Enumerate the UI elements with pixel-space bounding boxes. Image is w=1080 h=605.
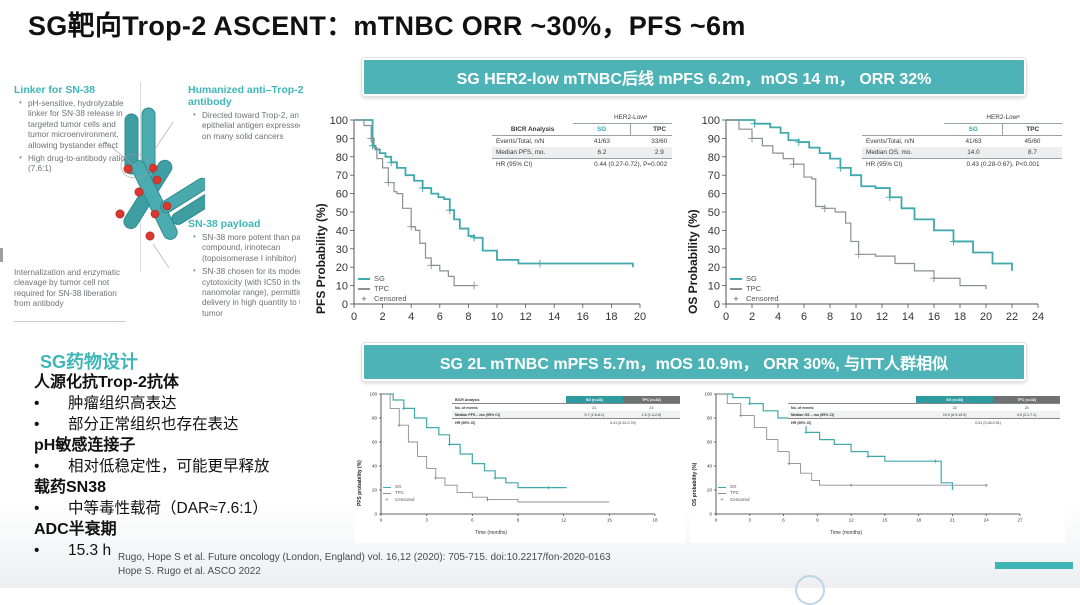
table-cell-value: 14.0: [944, 147, 1003, 159]
table-cell-label: Median PFS – mo (95% CI): [452, 411, 566, 419]
banner-2l-summary: SG 2L mTNBC mPFS 5.7m，mOS 10.9m， ORR 30%…: [362, 343, 1026, 381]
bullet-text: 相对低稳定性，可能更早释放: [68, 456, 270, 477]
chart-pfs-her2low-ylabel: PFS Probability (%): [314, 203, 328, 314]
table-row: HR (95% CI) 0.43 (0.28-0.67), P<0.001: [862, 159, 1062, 171]
svg-text:4: 4: [775, 311, 781, 323]
chart-pfs-2l-legend: SG TPC +Censored: [383, 484, 415, 504]
svg-text:30: 30: [708, 244, 720, 256]
humanized-bullets: Directed toward Trop-2, an epithelial an…: [188, 111, 314, 142]
svg-text:40: 40: [372, 464, 378, 469]
legend-swatch-sg: [718, 487, 726, 488]
bullet-marker: •: [34, 498, 68, 519]
table-cell-value: 0.43 (0.28-0.67), P<0.001: [944, 159, 1062, 171]
svg-text:20: 20: [980, 311, 992, 323]
legend-label-tpc: TPC: [746, 284, 761, 294]
svg-text:6: 6: [801, 311, 807, 323]
svg-text:20: 20: [708, 262, 720, 274]
table-group-header: HER2-Lowᵃ: [573, 112, 688, 124]
design-notes-list: 人源化抗Trop-2抗体 •肿瘤组织高表达 •部分正常组织也存在表达 pH敏感连…: [34, 372, 334, 561]
decor-bottom-bar: [995, 562, 1073, 569]
table-cell-label: HR (95% CI): [788, 419, 916, 427]
table-rowlabel-header: BICR Analysis: [492, 124, 573, 136]
svg-text:60: 60: [372, 440, 378, 445]
table-cell-label: Median OS – mo (95% CI): [788, 411, 916, 419]
design-section-title: 载药SN38: [34, 477, 334, 498]
table-cell-value: 6.2: [573, 147, 630, 159]
svg-text:40: 40: [336, 225, 348, 237]
list-item: Directed toward Trop-2, an epithelial an…: [197, 111, 314, 142]
table-cell-value: 10.9 (6.9-15.5): [916, 411, 993, 419]
svg-text:22: 22: [1006, 311, 1018, 323]
legend-label-censored: Censored: [374, 294, 407, 304]
bullet-text: 中等毒性载荷（DAR≈7.6:1）: [68, 498, 268, 519]
table-os-2l: SG (n=33) TPC (n=32) No. of events 22 24…: [788, 396, 1060, 426]
svg-text:60: 60: [707, 440, 713, 445]
design-section-bullet: •相对低稳定性，可能更早释放: [34, 456, 334, 477]
payload-heading: SN-38 payload: [188, 218, 316, 230]
legend-label-tpc: TPC: [374, 284, 389, 294]
table-cell-value: 0.41 (0.22-0.76): [566, 419, 680, 427]
svg-text:24: 24: [1032, 311, 1044, 323]
bullet-text: 15.3 h: [68, 540, 111, 561]
table-pfs-2l: BICR Analysis SG (n=33) TPC (n=32) No. o…: [452, 396, 680, 426]
legend-swatch-tpc: [383, 493, 391, 494]
svg-text:20: 20: [336, 262, 348, 274]
table-col-sg: SG: [573, 124, 630, 136]
legend-label-sg: SG: [746, 274, 757, 284]
svg-text:80: 80: [372, 416, 378, 421]
table-cell-value: 41/63: [944, 136, 1003, 148]
svg-text:21: 21: [950, 518, 956, 523]
svg-text:2: 2: [749, 311, 755, 323]
legend-item-censored: +Censored: [383, 496, 415, 504]
svg-text:6: 6: [437, 311, 443, 323]
table-cell-label: No. of events: [788, 404, 916, 412]
legend-label-tpc: TPC: [395, 490, 404, 496]
legend-swatch-sg: [358, 278, 370, 280]
bullet-marker: •: [34, 414, 68, 435]
svg-text:20: 20: [707, 488, 713, 493]
svg-text:100: 100: [704, 392, 712, 397]
table-row: No. of events 21 23: [452, 404, 680, 412]
table-row: Median OS – mo (95% CI) 10.9 (6.9-15.5) …: [788, 411, 1060, 419]
panel-rule: [14, 321, 126, 322]
table-cell-value: 0.44 (0.27-0.72), P=0.002: [573, 159, 688, 171]
svg-text:0: 0: [723, 311, 729, 323]
svg-text:2: 2: [380, 311, 386, 323]
svg-text:3: 3: [425, 518, 428, 523]
svg-text:15: 15: [607, 518, 613, 523]
svg-text:80: 80: [336, 152, 348, 164]
table-row: Median PFS, mo. 6.2 2.9: [492, 147, 688, 159]
table-pfs-her2low: HER2-Lowᵃ BICR Analysis SG TPC Events/To…: [492, 112, 688, 170]
table-rowlabel-header: [862, 124, 944, 136]
legend-swatch-tpc: [718, 493, 726, 494]
svg-text:80: 80: [708, 152, 720, 164]
table-os-her2low: HER2-Lowᵃ SG TPC Events/Total, n/N 41/63…: [862, 112, 1062, 170]
legend-item-sg: SG: [358, 274, 407, 284]
design-notes-heading: SG药物设计: [40, 348, 138, 374]
censor-mark-icon: +: [730, 295, 742, 303]
legend-item-censored: +Censored: [718, 496, 750, 504]
table-col-sg: SG (n=33): [566, 396, 623, 404]
svg-text:0: 0: [715, 518, 718, 523]
linker-heading: Linker for SN-38: [14, 84, 126, 96]
svg-text:100: 100: [369, 392, 377, 397]
legend-swatch-sg: [730, 278, 742, 280]
table-col-sg: SG (n=33): [916, 396, 993, 404]
chart-os-her2low-legend: SG TPC +Censored: [730, 274, 779, 304]
table-row: HER2-Lowᵃ: [492, 112, 688, 124]
svg-text:100: 100: [702, 115, 720, 127]
svg-text:14: 14: [902, 311, 914, 323]
chart-os-2l-legend: SG TPC +Censored: [718, 484, 750, 504]
table-cell-value: 5.7 (2.6-8.1): [566, 411, 623, 419]
svg-text:4: 4: [408, 311, 414, 323]
banner-her2low-summary: SG HER2-low mTNBC后线 mPFS 6.2m，mOS 14 m， …: [362, 58, 1026, 96]
legend-item-censored: +Censored: [730, 294, 779, 304]
svg-text:14: 14: [548, 311, 560, 323]
design-section-bullet: •中等毒性载荷（DAR≈7.6:1）: [34, 498, 334, 519]
table-row: No. of events 22 24: [788, 404, 1060, 412]
legend-label-sg: SG: [374, 274, 385, 284]
table-cell-label: No. of events: [452, 404, 566, 412]
svg-text:3: 3: [749, 518, 752, 523]
table-row: HR (95% CI) 0.41 (0.22-0.76): [452, 419, 680, 427]
table-cell-value: 8.7: [1003, 147, 1062, 159]
table-cell-label: Median PFS, mo.: [492, 147, 573, 159]
svg-text:0: 0: [380, 518, 383, 523]
svg-text:90: 90: [336, 133, 348, 145]
svg-text:12: 12: [519, 311, 531, 323]
svg-text:60: 60: [708, 189, 720, 201]
svg-text:8: 8: [465, 311, 471, 323]
table-cell-value: 0.51 (0.28-0.91): [916, 419, 1060, 427]
humanized-antibody-annotation: Humanized anti–Trop-2 antibody Directed …: [188, 84, 314, 145]
table-cell-value: 1.5 (1.4-2.6): [623, 411, 680, 419]
table-cell-value: 45/60: [1003, 136, 1062, 148]
svg-text:0: 0: [374, 512, 377, 517]
table-cell-value: 21: [566, 404, 623, 412]
bullet-text: 部分正常组织也存在表达: [68, 414, 239, 435]
legend-swatch-sg: [383, 487, 391, 488]
legend-label-censored: Censored: [746, 294, 779, 304]
svg-text:0: 0: [351, 311, 357, 323]
table-col-tpc: TPC: [1003, 124, 1062, 136]
antibody-diagram-panel: Linker for SN-38 pH-sensitive, hydrolyza…: [0, 78, 340, 340]
design-section-title: pH敏感连接子: [34, 435, 334, 456]
svg-text:18: 18: [954, 311, 966, 323]
bullet-marker: •: [34, 456, 68, 477]
citation-block: Rugo, Hope S et al. Future oncology (Lon…: [118, 551, 611, 579]
table-row: Median PFS – mo (95% CI) 5.7 (2.6-8.1) 1…: [452, 411, 680, 419]
svg-text:9: 9: [816, 518, 819, 523]
table-rowlabel-header: BICR Analysis: [452, 396, 566, 404]
slide-root: SG靶向Trop-2 ASCENT：mTNBC ORR ~30%，PFS ~6m…: [0, 0, 1080, 588]
svg-text:16: 16: [928, 311, 940, 323]
svg-text:10: 10: [850, 311, 862, 323]
svg-text:6: 6: [471, 518, 474, 523]
svg-text:10: 10: [336, 281, 348, 293]
chart-pfs-her2low-legend: SG TPC +Censored: [358, 274, 407, 304]
legend-item-tpc: TPC: [730, 284, 779, 294]
svg-text:90: 90: [708, 133, 720, 145]
design-section-title: ADC半衰期: [34, 519, 334, 540]
legend-label-tpc: TPC: [730, 490, 739, 496]
svg-text:27: 27: [1017, 518, 1023, 523]
table-row: Median OS, mo. 14.0 8.7: [862, 147, 1062, 159]
legend-item-censored: +Censored: [358, 294, 407, 304]
edge-marker: [0, 248, 3, 262]
table-col-tpc: TPC (n=32): [623, 396, 680, 404]
svg-text:40: 40: [708, 225, 720, 237]
svg-text:8: 8: [827, 311, 833, 323]
page-title: SG靶向Trop-2 ASCENT：mTNBC ORR ~30%，PFS ~6m: [28, 4, 746, 43]
svg-text:12: 12: [876, 311, 888, 323]
citation-line: Rugo, Hope S et al. Future oncology (Lon…: [118, 551, 611, 565]
censor-mark-icon: +: [718, 496, 726, 504]
legend-label-censored: Censored: [395, 497, 415, 503]
censor-mark-icon: +: [358, 295, 370, 303]
table-rowlabel-header: [788, 396, 916, 404]
citation-line: Hope S. Rugo et al. ASCO 2022: [118, 565, 611, 579]
svg-text:50: 50: [708, 207, 720, 219]
list-item: SN-38 chosen for its moderate cytotoxici…: [197, 267, 316, 319]
table-row: SG (n=33) TPC (n=32): [788, 396, 1060, 404]
decor-bottom-circle: [795, 575, 825, 605]
table-row: HER2-Lowᵃ: [862, 112, 1062, 124]
payload-bullets: SN-38 more potent than parent compound, …: [188, 233, 316, 319]
design-section-bullet: •肿瘤组织高表达: [34, 393, 334, 414]
svg-text:6: 6: [782, 518, 785, 523]
table-cell-label: HR (95% CI): [862, 159, 944, 171]
svg-text:20: 20: [634, 311, 646, 323]
svg-text:18: 18: [652, 518, 658, 523]
svg-text:Time (months): Time (months): [830, 530, 862, 536]
design-section-bullet: •部分正常组织也存在表达: [34, 414, 334, 435]
table-cell-label: HR (95% CI): [452, 419, 566, 427]
legend-item-sg: SG: [730, 274, 779, 284]
table-row: BICR Analysis SG TPC: [492, 124, 688, 136]
chart-os-2l-ylabel: OS probability (%): [692, 463, 698, 506]
table-cell-label: Events/Total, n/N: [492, 136, 573, 148]
table-row: BICR Analysis SG (n=33) TPC (n=32): [452, 396, 680, 404]
table-group-header: HER2-Lowᵃ: [944, 112, 1062, 124]
legend-item-tpc: TPC: [358, 284, 407, 294]
legend-label-censored: Censored: [730, 497, 750, 503]
table-cell-label: Median OS, mo.: [862, 147, 944, 159]
svg-text:60: 60: [336, 189, 348, 201]
svg-text:80: 80: [707, 416, 713, 421]
svg-text:16: 16: [577, 311, 589, 323]
table-row: HR (95% CI) 0.51 (0.28-0.91): [788, 419, 1060, 427]
table-row: SG TPC: [862, 124, 1062, 136]
svg-text:18: 18: [605, 311, 617, 323]
table-row: Events/Total, n/N 41/63 45/60: [862, 136, 1062, 148]
svg-text:0: 0: [714, 299, 720, 311]
svg-text:15: 15: [882, 518, 888, 523]
svg-text:24: 24: [984, 518, 990, 523]
svg-text:70: 70: [336, 170, 348, 182]
censor-mark-icon: +: [383, 496, 391, 504]
svg-text:100: 100: [330, 115, 348, 127]
svg-text:0: 0: [342, 299, 348, 311]
svg-text:10: 10: [708, 281, 720, 293]
chart-pfs-2l-ylabel: PFS probability (%): [357, 460, 363, 506]
table-cell-value: 4.5 (3.1-7.1): [993, 411, 1060, 419]
svg-text:18: 18: [916, 518, 922, 523]
list-item: SN-38 more potent than parent compound, …: [197, 233, 316, 264]
table-cell-value: 23: [623, 404, 680, 412]
svg-text:9: 9: [517, 518, 520, 523]
table-cell-label: Events/Total, n/N: [862, 136, 944, 148]
svg-text:50: 50: [336, 207, 348, 219]
svg-text:12: 12: [561, 518, 567, 523]
table-col-sg: SG: [944, 124, 1003, 136]
table-cell-value: 41/63: [573, 136, 630, 148]
svg-text:12: 12: [849, 518, 855, 523]
payload-annotation: SN-38 payload SN-38 more potent than par…: [188, 218, 316, 322]
table-cell-value: 22: [916, 404, 993, 412]
bullet-text: 肿瘤组织高表达: [68, 393, 177, 414]
table-col-tpc: TPC (n=32): [993, 396, 1060, 404]
svg-text:30: 30: [336, 244, 348, 256]
table-row: Events/Total, n/N 41/63 33/60: [492, 136, 688, 148]
svg-text:20: 20: [372, 488, 378, 493]
bullet-marker: •: [34, 393, 68, 414]
table-cell-value: 24: [993, 404, 1060, 412]
svg-text:70: 70: [708, 170, 720, 182]
legend-swatch-tpc: [358, 288, 370, 290]
humanized-heading: Humanized anti–Trop-2 antibody: [188, 84, 314, 108]
svg-text:Time (months): Time (months): [475, 530, 507, 536]
svg-text:40: 40: [707, 464, 713, 469]
chart-os-her2low-ylabel: OS Probability (%): [686, 209, 700, 314]
design-section-title: 人源化抗Trop-2抗体: [34, 372, 334, 393]
table-row: HR (95% CI) 0.44 (0.27-0.72), P=0.002: [492, 159, 688, 171]
svg-text:10: 10: [491, 311, 503, 323]
legend-swatch-tpc: [730, 288, 742, 290]
antibody-illustration: [95, 96, 205, 311]
bullet-marker: •: [34, 540, 68, 561]
table-cell-label: HR (95% CI): [492, 159, 573, 171]
svg-text:0: 0: [709, 512, 712, 517]
